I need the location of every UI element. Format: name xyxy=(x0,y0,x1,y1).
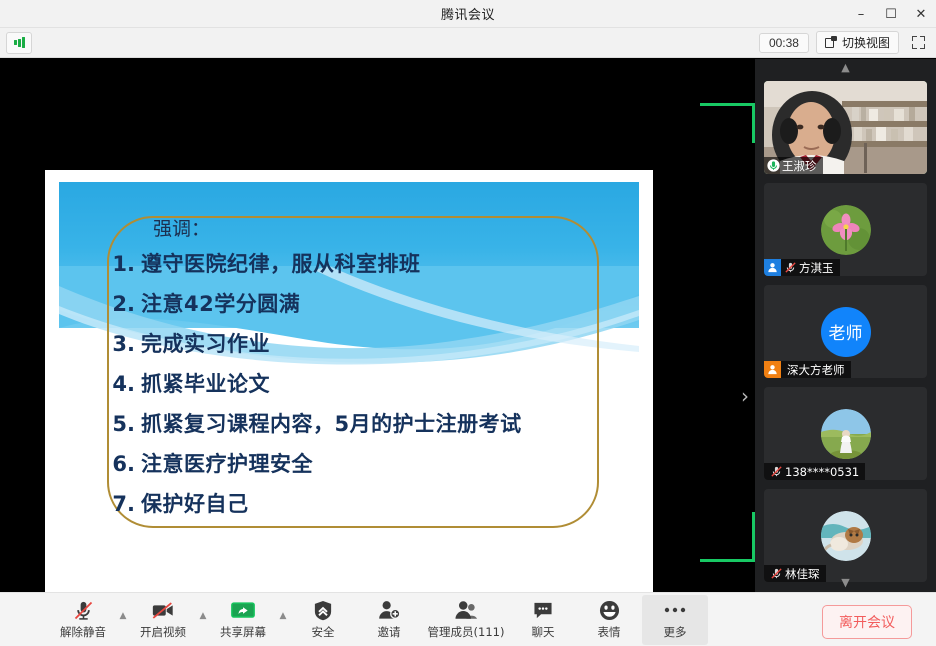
mic-muted-icon xyxy=(781,259,799,276)
slide-list: 1. 遵守医院纪律，服从科室排班 2. 注意42学分圆满 3. 完成实习作业 4… xyxy=(105,248,645,528)
list-item-text: 抓紧毕业论文 xyxy=(141,368,270,398)
meeting-window: 腾讯会议 – ☐ ✕ 00:38 切换视图 xyxy=(0,0,936,646)
shared-screen-stage: 强调： 1. 遵守医院纪律，服从科室排班 2. 注意42学分圆满 3. 完成实习… xyxy=(0,59,755,592)
collapse-panel-arrow[interactable]: › xyxy=(737,384,753,408)
control-buttons: 解除静音 ▲ 开启视频 ▲ xyxy=(50,595,708,645)
list-item-text: 遵守医院纪律，服从科室排班 xyxy=(141,248,421,278)
security-button[interactable]: 安全 xyxy=(290,595,356,645)
list-item-number: 2. xyxy=(105,292,135,316)
participant-tiles: 王淑珍 xyxy=(755,81,936,591)
list-item: 1. 遵守医院纪律，服从科室排班 xyxy=(105,248,645,278)
list-item: 2. 注意42学分圆满 xyxy=(105,288,645,318)
list-item-number: 4. xyxy=(105,372,135,396)
screen-share-indicator-top xyxy=(700,103,755,143)
avatar xyxy=(821,205,871,255)
leave-meeting-button[interactable]: 离开会议 xyxy=(822,605,912,639)
video-off-icon xyxy=(151,599,175,621)
avatar: 老师 xyxy=(821,307,871,357)
list-item-text: 保护好自己 xyxy=(141,488,249,518)
participant-name: 王淑珍 xyxy=(782,158,817,174)
list-item: 4. 抓紧毕业论文 xyxy=(105,368,645,398)
manage-members-icon xyxy=(454,599,478,621)
meeting-timer: 00:38 xyxy=(759,33,809,53)
participant-scroll-down[interactable]: ▼ xyxy=(755,574,936,590)
manage-members-button[interactable]: 管理成员(111) xyxy=(422,595,510,645)
maximize-button[interactable]: ☐ xyxy=(876,0,906,28)
video-button[interactable]: 开启视频 xyxy=(130,595,196,645)
chat-button[interactable]: 聊天 xyxy=(510,595,576,645)
participant-namebar: 深大方老师 xyxy=(764,361,851,378)
participant-tile[interactable]: 138****0531 xyxy=(764,387,927,480)
mic-unmuted-icon xyxy=(764,157,782,174)
shared-slide: 强调： 1. 遵守医院纪律，服从科室排班 2. 注意42学分圆满 3. 完成实习… xyxy=(45,170,653,625)
list-item-text: 抓紧复习课程内容，5月的护士注册考试 xyxy=(141,408,522,438)
mute-button-label: 解除静音 xyxy=(60,624,106,640)
list-item: 6. 注意医疗护理安全 xyxy=(105,448,645,478)
invite-user-icon xyxy=(378,599,401,621)
participant-tile[interactable]: 方淇玉 xyxy=(764,183,927,276)
switch-view-icon xyxy=(825,36,838,49)
screen-share-indicator-bottom xyxy=(700,512,755,562)
shield-icon xyxy=(313,599,333,621)
manage-members-button-label: 管理成员(111) xyxy=(428,624,505,640)
fullscreen-button[interactable] xyxy=(906,32,930,54)
participant-name: 深大方老师 xyxy=(787,362,845,378)
host-badge-icon xyxy=(764,361,781,378)
list-item-number: 7. xyxy=(105,492,135,516)
list-item-text: 注意医疗护理安全 xyxy=(141,448,313,478)
emoji-button[interactable]: 表情 xyxy=(576,595,642,645)
video-options-caret[interactable]: ▲ xyxy=(196,595,210,645)
list-item-number: 5. xyxy=(105,412,135,436)
share-screen-button-label: 共享屏幕 xyxy=(220,624,266,640)
slide-heading: 强调： xyxy=(153,214,210,241)
participant-strip: ▲ xyxy=(755,59,936,592)
share-options-caret[interactable]: ▲ xyxy=(276,595,290,645)
invite-button-label: 邀请 xyxy=(378,624,401,640)
participant-namebar: 方淇玉 xyxy=(764,259,840,276)
chat-button-label: 聊天 xyxy=(532,624,555,640)
emoji-icon xyxy=(599,599,620,621)
avatar xyxy=(821,511,871,561)
participant-namebar: 138****0531 xyxy=(764,463,865,480)
meeting-control-bar: 解除静音 ▲ 开启视频 ▲ xyxy=(0,592,936,646)
more-icon xyxy=(663,599,687,621)
more-button-label: 更多 xyxy=(664,624,687,640)
participant-badge-icon xyxy=(764,259,781,276)
meeting-toolbar-right: 00:38 切换视图 xyxy=(759,31,930,54)
list-item: 3. 完成实习作业 xyxy=(105,328,645,358)
title-bar: 腾讯会议 – ☐ ✕ xyxy=(0,0,936,28)
video-button-label: 开启视频 xyxy=(140,624,186,640)
list-item: 7. 保护好自己 xyxy=(105,488,645,518)
list-item-number: 1. xyxy=(105,252,135,276)
list-item-text: 注意42学分圆满 xyxy=(141,288,300,318)
slide-content: 强调： 1. 遵守医院纪律，服从科室排班 2. 注意42学分圆满 3. 完成实习… xyxy=(45,170,653,625)
participant-tile[interactable]: 老师 深大方老师 xyxy=(764,285,927,378)
list-item-number: 6. xyxy=(105,452,135,476)
list-item-number: 3. xyxy=(105,332,135,356)
mic-muted-icon xyxy=(767,463,785,480)
more-button[interactable]: 更多 xyxy=(642,595,708,645)
chat-icon xyxy=(532,599,554,621)
mute-button[interactable]: 解除静音 xyxy=(50,595,116,645)
switch-view-label: 切换视图 xyxy=(842,34,890,51)
participant-name: 方淇玉 xyxy=(799,260,834,276)
participant-tile[interactable]: 林佳琛 xyxy=(764,489,927,582)
list-item: 5. 抓紧复习课程内容，5月的护士注册考试 xyxy=(105,408,645,438)
share-screen-button[interactable]: 共享屏幕 xyxy=(210,595,276,645)
participant-name: 138****0531 xyxy=(785,465,859,479)
fullscreen-icon xyxy=(912,36,925,49)
participant-tile[interactable]: 王淑珍 xyxy=(764,81,927,174)
close-button[interactable]: ✕ xyxy=(906,0,936,28)
participant-scroll-up[interactable]: ▲ xyxy=(755,59,936,75)
list-item-text: 完成实习作业 xyxy=(141,328,270,358)
mic-muted-icon xyxy=(73,599,94,621)
invite-button[interactable]: 邀请 xyxy=(356,595,422,645)
switch-view-button[interactable]: 切换视图 xyxy=(816,31,899,54)
security-button-label: 安全 xyxy=(312,624,335,640)
screen-share-icon xyxy=(230,599,256,621)
emoji-button-label: 表情 xyxy=(598,624,621,640)
app-title: 腾讯会议 xyxy=(441,4,495,23)
mic-options-caret[interactable]: ▲ xyxy=(116,595,130,645)
avatar xyxy=(821,409,871,459)
window-controls: – ☐ ✕ xyxy=(846,0,936,28)
meeting-toolbar: 00:38 切换视图 xyxy=(0,28,936,58)
signal-strength-icon[interactable] xyxy=(6,32,32,54)
minimize-button[interactable]: – xyxy=(846,0,876,28)
participant-namebar: 王淑珍 xyxy=(764,157,823,174)
